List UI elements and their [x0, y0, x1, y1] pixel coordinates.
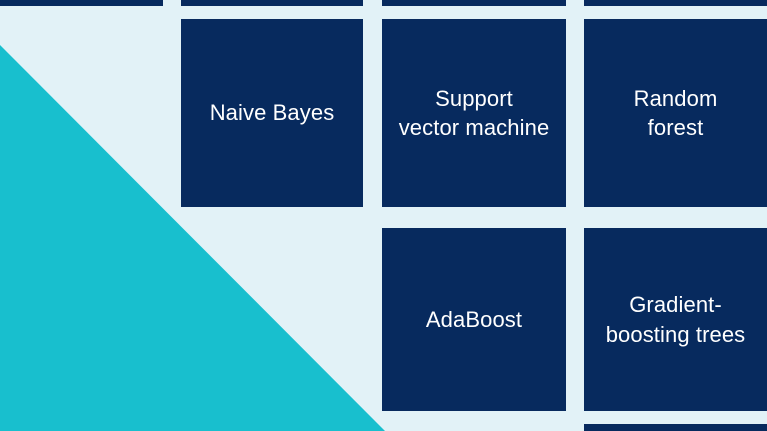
- tile-naive-bayes[interactable]: Naive Bayes: [181, 19, 363, 207]
- tile-row0-col0[interactable]: [0, 0, 163, 6]
- tile-row3-col3[interactable]: [584, 424, 767, 431]
- tile-support-vector-machine[interactable]: Support vector machine: [382, 19, 566, 207]
- slide-canvas: Naive Bayes Support vector machine Rando…: [0, 0, 767, 431]
- tile-random-forest[interactable]: Random forest: [584, 19, 767, 207]
- tile-gradient-boosting-trees[interactable]: Gradient- boosting trees: [584, 228, 767, 411]
- tile-row0-col2[interactable]: [382, 0, 566, 6]
- tile-row0-col3[interactable]: [584, 0, 767, 6]
- tile-adaboost[interactable]: AdaBoost: [382, 228, 566, 411]
- tile-row0-col1[interactable]: [181, 0, 363, 6]
